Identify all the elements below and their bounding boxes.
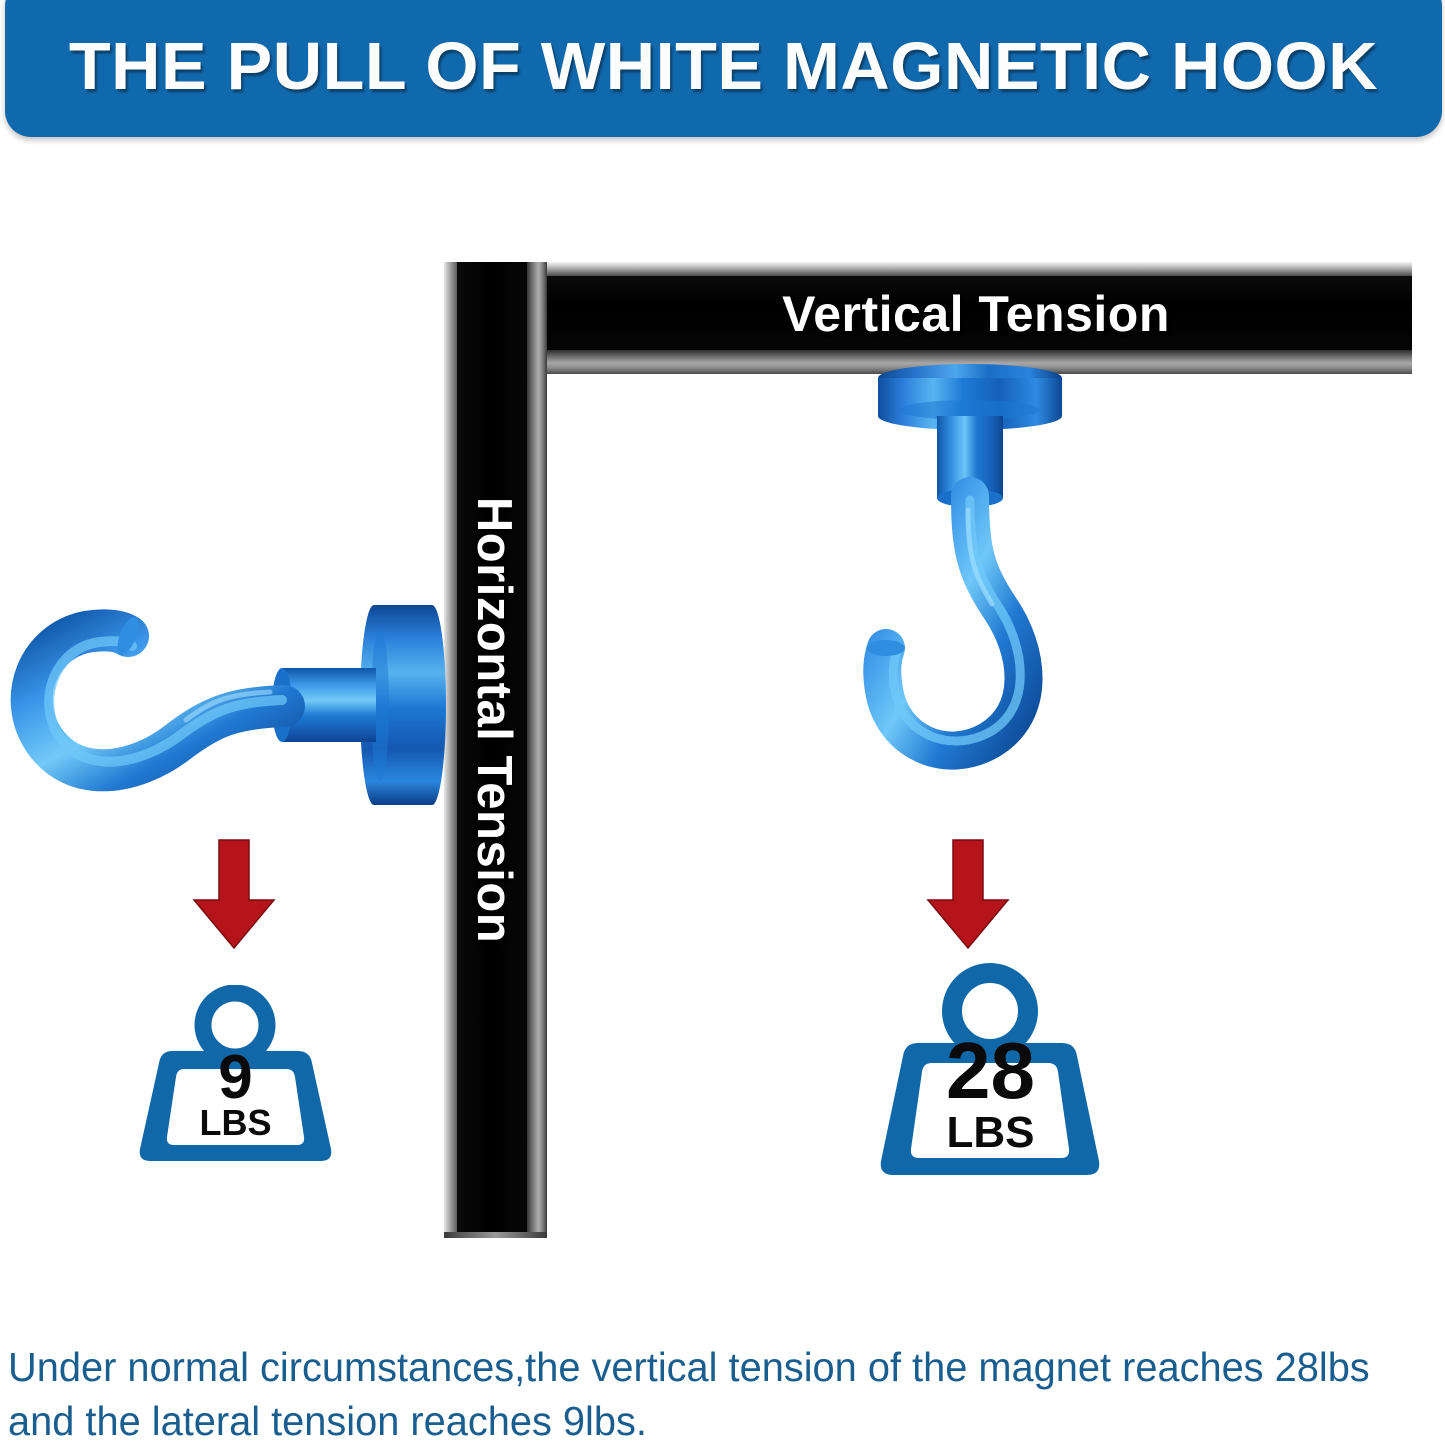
label-vertical-tension: Vertical Tension	[540, 274, 1412, 354]
magnetic-hook-ceiling-icon	[840, 360, 1100, 800]
footer-caption: Under normal circumstances,the vertical …	[8, 1340, 1395, 1448]
weight-value-28: 28	[868, 1031, 1113, 1111]
surface-ceiling: Vertical Tension	[540, 262, 1412, 374]
magnetic-hook-wall-icon	[0, 540, 462, 830]
weight-badge-9lbs: 9 LBS	[128, 985, 343, 1165]
arrow-down-icon-vertical	[922, 838, 1014, 950]
weight-unit-9: LBS	[128, 1105, 343, 1141]
weight-badge-28lbs: 28 LBS	[868, 963, 1113, 1181]
page-title: THE PULL OF WHITE MAGNETIC HOOK	[0, 0, 1445, 137]
header-banner: THE PULL OF WHITE MAGNETIC HOOK	[5, 0, 1442, 137]
weight-unit-28: LBS	[868, 1111, 1113, 1155]
arrow-down-icon-horizontal	[188, 838, 280, 950]
label-horizontal-tension: Horizontal Tension	[456, 350, 532, 1090]
wall-bottom-cap	[444, 1232, 547, 1238]
weight-value-9: 9	[128, 1047, 343, 1109]
